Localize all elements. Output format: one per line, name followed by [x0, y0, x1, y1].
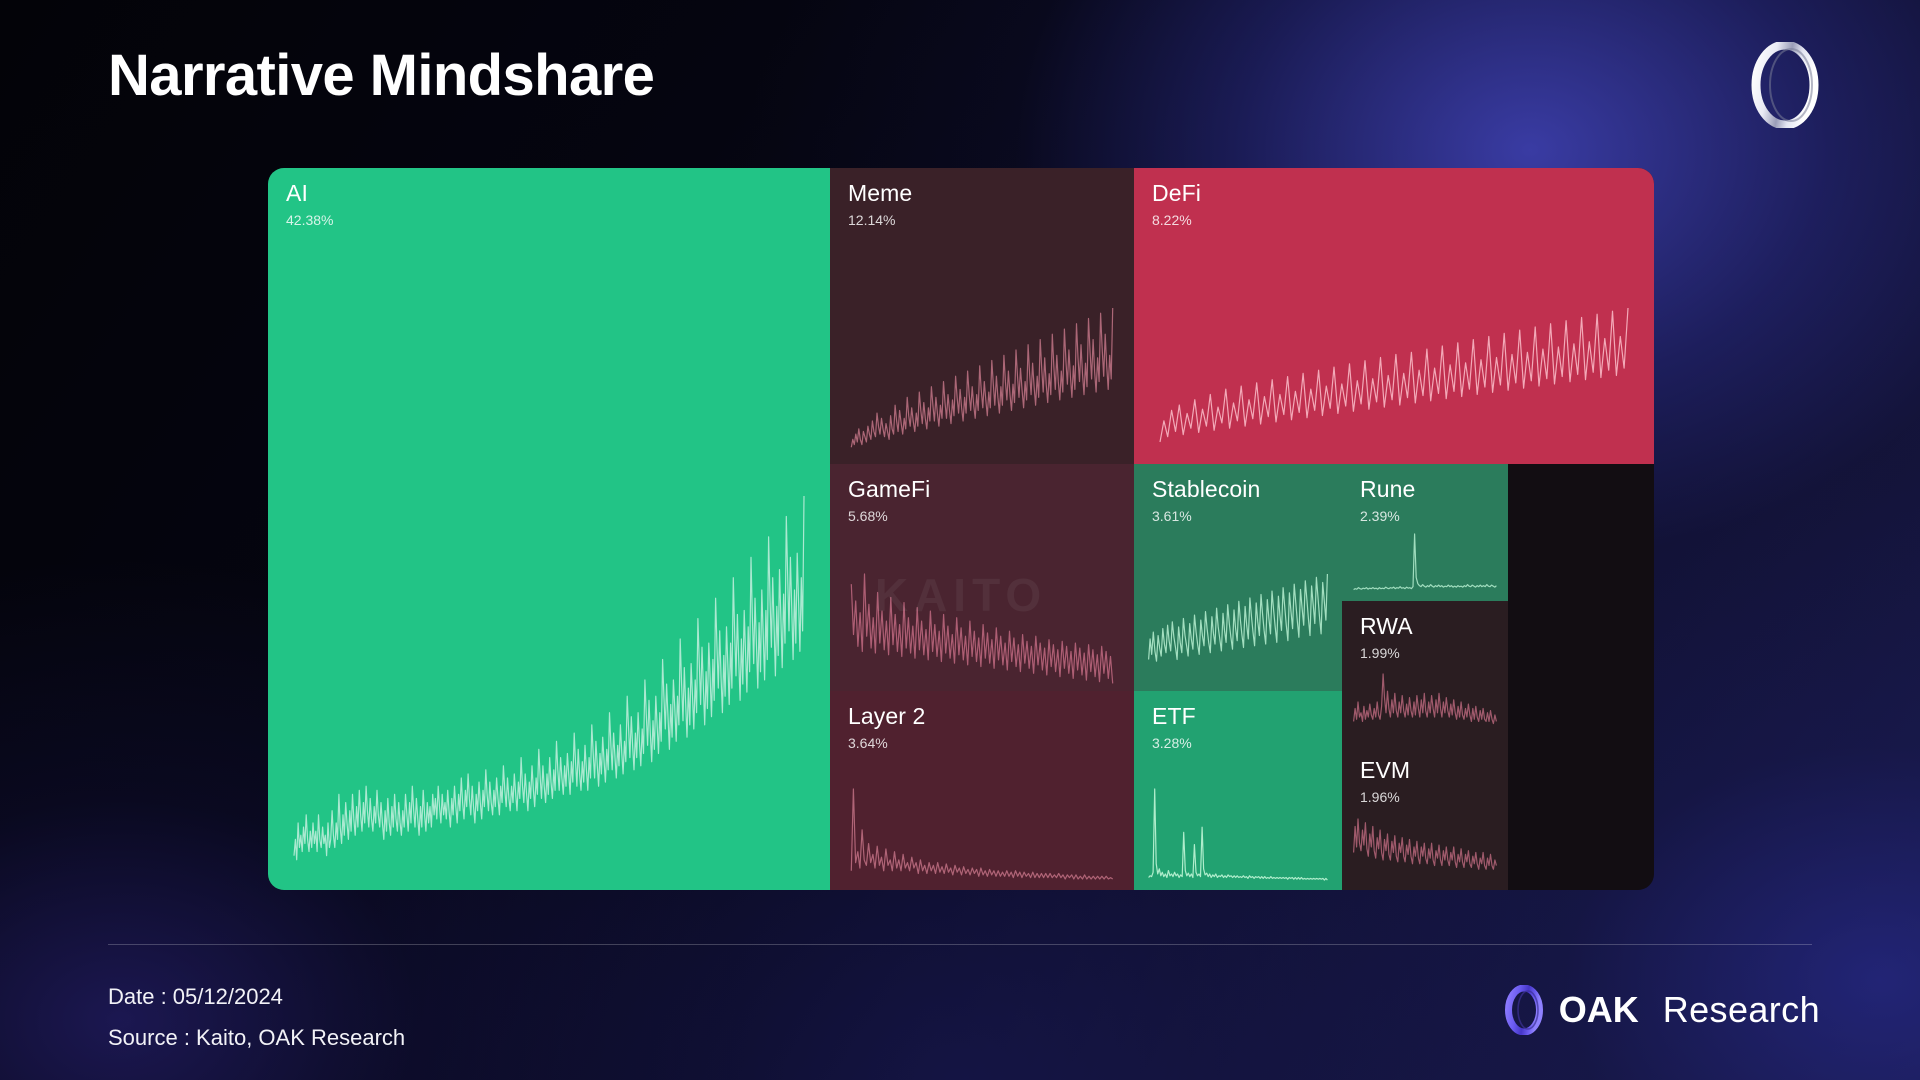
treemap-cell-value: 8.22% [1152, 212, 1192, 228]
footer-divider [108, 944, 1812, 945]
logo-oak-text: OAK [1559, 989, 1639, 1031]
sparkline [1342, 524, 1508, 601]
treemap-cell[interactable]: Stablecoin3.61% [1134, 464, 1342, 691]
treemap-chart: AI42.38%Meme12.14%DeFi8.22%GameFi5.68%La… [268, 168, 1654, 890]
sparkline [1134, 298, 1654, 464]
page-title: Narrative Mindshare [108, 42, 654, 109]
treemap-cell-label: DeFi [1152, 180, 1201, 207]
treemap-cell[interactable]: Layer 23.64% [830, 691, 1134, 890]
treemap-cell[interactable]: ETF3.28% [1134, 691, 1342, 890]
treemap-cell-label: GameFi [848, 476, 930, 503]
treemap-cell-label: Stablecoin [1152, 476, 1260, 503]
treemap-cell[interactable]: DeFi8.22% [1134, 168, 1654, 464]
treemap-cell-value: 42.38% [286, 212, 333, 228]
sparkline [830, 564, 1134, 691]
treemap-cell-value: 5.68% [848, 508, 888, 524]
treemap-cell-label: AI [286, 180, 308, 207]
treemap-cell-value: 2.39% [1360, 508, 1400, 524]
treemap-cell-value: 3.61% [1152, 508, 1192, 524]
treemap-cell-label: Layer 2 [848, 703, 925, 730]
treemap-cell-value: 1.99% [1360, 645, 1400, 661]
treemap-cell[interactable]: Rune2.39% [1342, 464, 1508, 601]
treemap-cell-label: RWA [1360, 613, 1413, 640]
treemap-cell[interactable]: Meme12.14% [830, 168, 1134, 464]
treemap-cell[interactable]: AI42.38% [268, 168, 830, 890]
footer-meta: Date : 05/12/2024 Source : Kaito, OAK Re… [108, 976, 405, 1058]
oak-research-logo: OAK Research [1503, 985, 1820, 1035]
treemap-cell-value: 3.64% [848, 735, 888, 751]
treemap-cell[interactable]: EVM1.96% [1342, 745, 1508, 890]
oak-ring-icon [1748, 42, 1822, 128]
logo-research-text: Research [1663, 989, 1820, 1031]
treemap-cell[interactable]: GameFi5.68% [830, 464, 1134, 691]
treemap-cell-label: Rune [1360, 476, 1415, 503]
footer-source: Source : Kaito, OAK Research [108, 1017, 405, 1058]
sparkline [268, 486, 830, 890]
sparkline [1134, 564, 1342, 691]
sparkline [830, 298, 1134, 464]
treemap-cell-label: ETF [1152, 703, 1196, 730]
treemap-cell-value: 12.14% [848, 212, 895, 228]
treemap-cell[interactable]: RWA1.99% [1342, 601, 1508, 745]
footer-date: Date : 05/12/2024 [108, 976, 405, 1017]
treemap-cell-label: Meme [848, 180, 912, 207]
sparkline [830, 779, 1134, 890]
sparkline [1342, 809, 1508, 890]
treemap-cell-label: EVM [1360, 757, 1410, 784]
sparkline [1134, 779, 1342, 890]
oak-ring-icon [1503, 985, 1545, 1035]
sparkline [1342, 664, 1508, 745]
poster-canvas: Narrative Mindshare AI42.38%Meme12.14%De… [0, 0, 1920, 1080]
treemap-cell-value: 3.28% [1152, 735, 1192, 751]
treemap-cell-value: 1.96% [1360, 789, 1400, 805]
